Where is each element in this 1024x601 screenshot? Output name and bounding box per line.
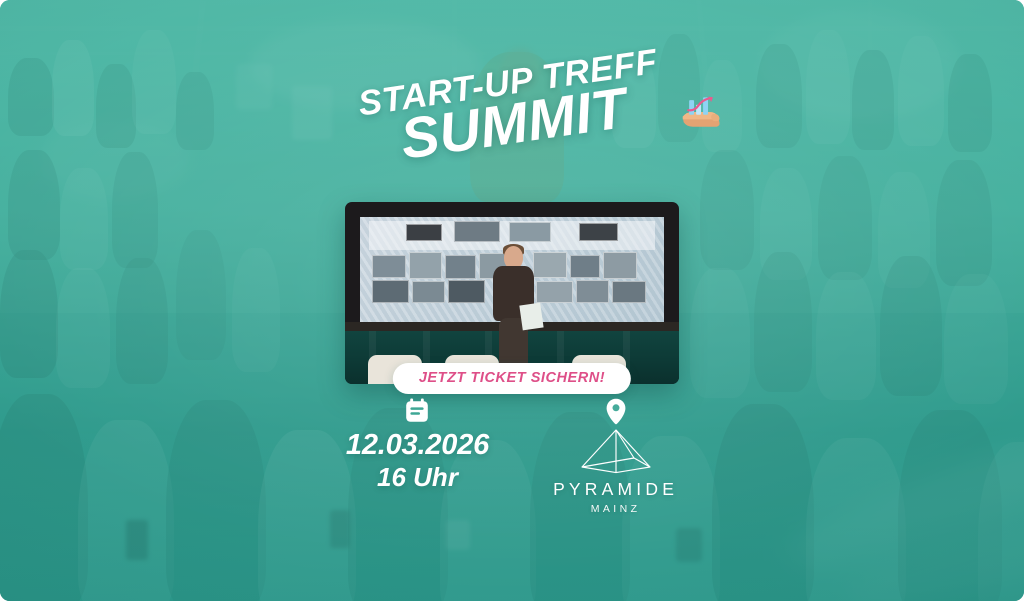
collage-photo [576, 280, 609, 303]
collage-photo [372, 280, 408, 303]
collage-photo [454, 221, 500, 242]
event-venue-block: PYRAMIDE MAINZ [553, 398, 678, 515]
collage-photo [533, 252, 566, 277]
pyramid-outline-icon [579, 427, 653, 475]
event-hero-banner: START-UP TREFF SUMMIT [0, 0, 1024, 601]
collage-photo [509, 222, 552, 242]
collage-photo [409, 252, 442, 278]
event-date: 12.03.2026 [346, 431, 489, 460]
hero-title-line-2: SUMMIT [361, 75, 667, 174]
collage-photo [536, 281, 572, 303]
calendar-icon [405, 398, 429, 423]
event-video-thumbnail[interactable] [345, 202, 679, 384]
event-date-block: 12.03.2026 16 Uhr [346, 398, 489, 493]
venue-name: PYRAMIDE [553, 479, 678, 500]
hero-title-line-1: START-UP TREFF [357, 45, 660, 122]
collage-photo [412, 281, 445, 303]
hero-title-block: START-UP TREFF SUMMIT [0, 66, 1024, 153]
collage-photo [448, 280, 484, 303]
hero-content: START-UP TREFF SUMMIT [0, 0, 1024, 601]
chart-increasing-with-hand-emoji [679, 89, 723, 133]
collage-photo [445, 255, 475, 279]
event-info-row: 12.03.2026 16 Uhr [0, 398, 1024, 515]
collage-photo [406, 224, 442, 241]
location-pin-icon [605, 398, 627, 425]
speaker-notes [520, 303, 544, 331]
buy-ticket-button[interactable]: JETZT TICKET SICHERN! [393, 363, 631, 394]
collage-photo [612, 281, 645, 303]
collage-photo [603, 252, 636, 278]
collage-photo [579, 223, 619, 241]
event-time: 16 Uhr [377, 463, 458, 493]
speaker-figure [492, 246, 535, 373]
collage-photo [570, 255, 600, 278]
collage-photo [372, 255, 405, 278]
venue-city: MAINZ [591, 503, 641, 515]
